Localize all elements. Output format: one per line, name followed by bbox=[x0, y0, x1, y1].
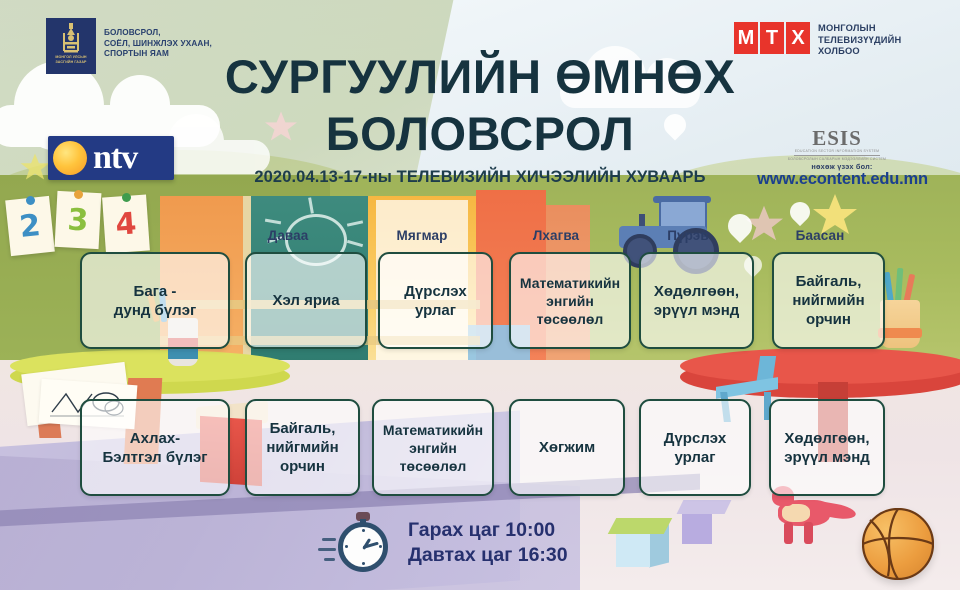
poster-content: МОНГОЛ УЛСЫН ЗАСГИЙН ГАЗАР БОЛОВСРОЛ, СО… bbox=[0, 0, 960, 590]
lesson-cell-fri-row-2[interactable]: Хөдөлгөөн, эрүүл мэнд bbox=[769, 399, 885, 496]
page-subtitle: 2020.04.13-17-ны ТЕЛЕВИЗИЙН ХИЧЭЭЛИЙН ХУ… bbox=[0, 168, 960, 187]
day-header-tuesday: Мягмар bbox=[374, 228, 470, 243]
lesson-cell-wed-row-2[interactable]: Хөгжим bbox=[509, 399, 625, 496]
day-header-wednesday: Лхагва bbox=[508, 228, 604, 243]
day-header-monday: Даваа bbox=[240, 228, 336, 243]
stopwatch-icon bbox=[332, 512, 394, 574]
day-header-friday: Баасан bbox=[772, 228, 868, 243]
lesson-cell-mon-row-1[interactable]: Хэл яриа bbox=[245, 252, 367, 349]
tv-lesson-schedule-poster: 2 3 4 bbox=[0, 0, 960, 590]
broadcast-times-text: Гарах цаг 10:00 Давтах цаг 16:30 bbox=[408, 518, 568, 568]
lesson-cell-mon-row-2[interactable]: Байгаль, нийгмийн орчин bbox=[245, 399, 360, 496]
group-label-row-1: Бага - дунд бүлэг bbox=[80, 252, 230, 349]
day-header-thursday: Пүрэв bbox=[640, 228, 736, 243]
lesson-cell-thu-row-1[interactable]: Хөдөлгөөн, эрүүл мэнд bbox=[639, 252, 754, 349]
broadcast-times: Гарах цаг 10:00 Давтах цаг 16:30 bbox=[332, 512, 568, 574]
lesson-cell-tue-row-1[interactable]: Дүрслэх урлаг bbox=[378, 252, 493, 349]
lesson-cell-thu-row-2[interactable]: Дүрслэх урлаг bbox=[639, 399, 751, 496]
lesson-cell-tue-row-2[interactable]: Математикийн энгийн төсөөлөл bbox=[372, 399, 494, 496]
page-title: СУРГУУЛИЙН ӨМНӨХ БОЛОВСРОЛ bbox=[0, 48, 960, 162]
lesson-cell-fri-row-1[interactable]: Байгаль, нийгмийн орчин bbox=[772, 252, 885, 349]
group-label-row-2: Ахлах- Бэлтгэл бүлэг bbox=[80, 399, 230, 496]
lesson-cell-wed-row-1[interactable]: Математикийн энгийн төсөөлөл bbox=[509, 252, 631, 349]
